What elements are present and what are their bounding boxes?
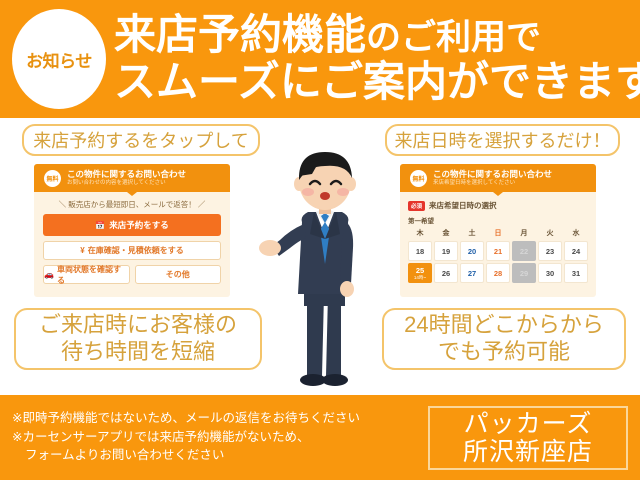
calendar-day-cell[interactable]: 20: [460, 241, 484, 261]
other-button[interactable]: その他: [135, 265, 222, 284]
footer-note-line-3: フォームよりお問い合わせください: [12, 446, 422, 465]
calendar-day-number: 29: [520, 269, 528, 278]
left-caption-pill: 来店予約するをタップして: [22, 124, 260, 156]
calendar-preference-label: 第一希望: [408, 215, 588, 225]
footer-note-line-1: ※即時予約機能ではないため、メールの返信をお待ちください: [12, 409, 422, 428]
calendar-day-cell[interactable]: 2514時~: [408, 263, 432, 283]
calendar-day-cell: 22: [512, 241, 536, 261]
calendar-day-cell[interactable]: 27: [460, 263, 484, 283]
calendar-day-number: 23: [546, 247, 554, 256]
vehicle-condition-button[interactable]: 🚗 車両状態を確認する: [43, 265, 130, 284]
stock-quote-button[interactable]: ¥ 在庫確認・見積依頼をする: [43, 241, 221, 260]
calendar-day-number: 22: [520, 247, 528, 256]
free-badge-icon: 無料: [44, 170, 61, 187]
store-name-line-2: 所沢新座店: [463, 438, 593, 467]
calendar-day-header: 水: [564, 228, 588, 239]
left-mock-header-subtitle: お問い合わせの内容を選択してください: [67, 180, 186, 187]
calendar-day-header: 月: [512, 228, 536, 239]
calendar-day-cell[interactable]: 18: [408, 241, 432, 261]
headline-emphasis: 来店予約機能: [114, 11, 366, 58]
left-benefit-pill: ご来店時にお客様の 待ち時間を短縮: [14, 308, 262, 370]
right-caption-text: 来店日時を選択するだけ！: [395, 127, 611, 153]
left-caption-text: 来店予約するをタップして: [33, 127, 248, 153]
left-mock-promo-text: ＼ 販売店から最短即日、メールで返答！ ／: [34, 199, 230, 210]
calendar-day-header: 木: [408, 228, 432, 239]
calendar-day-cell[interactable]: 28: [486, 263, 510, 283]
calendar-panel: 必須 来店希望日時の選択 第一希望 木金土日月火水181920212223242…: [400, 196, 596, 283]
calendar-day-cell: 29: [512, 263, 536, 283]
right-mock-header-subtitle: 来店希望日時を選択してください: [433, 180, 552, 187]
left-benefit-line-1: ご来店時にお客様の: [39, 312, 237, 339]
calendar-day-number: 27: [468, 269, 476, 278]
calendar-day-header: 土: [460, 228, 484, 239]
calendar-day-number: 21: [494, 247, 502, 256]
store-name-line-1: パッカーズ: [464, 410, 593, 439]
calendar-day-number: 18: [416, 247, 424, 256]
body-area: 来店予約するをタップして 来店日時を選択するだけ！ 無料 この物件に関するお問い…: [0, 118, 640, 395]
reserve-visit-button-label: 来店予約をする: [109, 219, 169, 231]
salesman-illustration: [250, 144, 400, 394]
vehicle-condition-button-label: 車両状態を確認する: [57, 264, 129, 286]
calendar-day-header: 火: [538, 228, 562, 239]
right-mock-header: 無料 この物件に関するお問い合わせ 来店希望日時を選択してください: [400, 164, 596, 192]
left-app-mockup: 無料 この物件に関するお問い合わせ お問い合わせの内容を選択してください ＼ 販…: [34, 164, 230, 297]
headline-line-1: 来店予約機能のご利用で: [114, 13, 640, 58]
calendar-icon: 📅: [95, 221, 105, 230]
calendar-day-number: 31: [572, 269, 580, 278]
car-icon: 🚗: [44, 270, 54, 279]
left-mock-button-row: 🚗 車両状態を確認する その他: [43, 265, 221, 284]
notice-badge-label: お知らせ: [26, 47, 92, 72]
mock-arrow-icon: [127, 192, 137, 196]
calendar-day-cell[interactable]: 26: [434, 263, 458, 283]
calendar-section-title: 来店希望日時の選択: [429, 200, 497, 211]
calendar-day-number: 20: [468, 247, 476, 256]
yen-icon: ¥: [80, 246, 84, 255]
headline-tail: のご利用で: [366, 18, 541, 57]
required-badge: 必須: [408, 201, 425, 211]
calendar-day-number: 25: [416, 266, 424, 275]
calendar-day-header: 日: [486, 228, 510, 239]
calendar-grid[interactable]: 木金土日月火水181920212223242514時~262728293031: [408, 228, 588, 283]
footer-note-line-2: ※カーセンサーアプリでは来店予約機能がないため、: [12, 428, 422, 447]
calendar-day-number: 24: [572, 247, 580, 256]
calendar-day-timeslot: 14時~: [414, 276, 426, 281]
stock-quote-button-label: 在庫確認・見積依頼をする: [88, 245, 184, 256]
advertisement-banner: お知らせ 来店予約機能のご利用で スムーズにご案内ができます 来店予約するをタッ…: [0, 0, 640, 480]
calendar-day-number: 26: [442, 269, 450, 278]
reserve-visit-button[interactable]: 📅 来店予約をする: [43, 214, 221, 236]
other-button-label: その他: [166, 269, 190, 280]
calendar-day-cell[interactable]: 30: [538, 263, 562, 283]
calendar-day-header: 金: [434, 228, 458, 239]
right-benefit-line-1: 24時間どこからから: [404, 312, 604, 339]
right-caption-pill: 来店日時を選択するだけ！: [385, 124, 620, 156]
calendar-day-cell[interactable]: 31: [564, 263, 588, 283]
calendar-day-number: 19: [442, 247, 450, 256]
calendar-day-number: 28: [494, 269, 502, 278]
calendar-day-number: 30: [546, 269, 554, 278]
left-mock-header: 無料 この物件に関するお問い合わせ お問い合わせの内容を選択してください: [34, 164, 230, 192]
right-mock-header-title: この物件に関するお問い合わせ: [433, 169, 552, 179]
left-mock-header-title: この物件に関するお問い合わせ: [67, 169, 186, 179]
notice-badge: お知らせ: [12, 9, 106, 109]
store-name-box: パッカーズ 所沢新座店: [428, 406, 628, 470]
right-app-mockup: 無料 この物件に関するお問い合わせ 来店希望日時を選択してください 必須 来店希…: [400, 164, 596, 297]
free-badge-icon: 無料: [410, 170, 427, 187]
calendar-day-cell[interactable]: 23: [538, 241, 562, 261]
right-benefit-pill: 24時間どこからから でも予約可能: [382, 308, 626, 370]
left-benefit-line-2: 待ち時間を短縮: [39, 339, 237, 366]
header-headline: 来店予約機能のご利用で スムーズにご案内ができます: [114, 13, 640, 104]
calendar-day-cell[interactable]: 24: [564, 241, 588, 261]
calendar-title-row: 必須 来店希望日時の選択: [408, 200, 588, 211]
right-mock-header-texts: この物件に関するお問い合わせ 来店希望日時を選択してください: [433, 169, 552, 186]
headline-line-2: スムーズにご案内ができます: [114, 60, 640, 105]
right-benefit-line-2: でも予約可能: [404, 339, 604, 366]
calendar-day-cell[interactable]: 21: [486, 241, 510, 261]
header-band: お知らせ 来店予約機能のご利用で スムーズにご案内ができます: [0, 0, 640, 118]
footer-disclaimer: ※即時予約機能ではないため、メールの返信をお待ちください ※カーセンサーアプリで…: [12, 409, 422, 465]
calendar-day-cell[interactable]: 19: [434, 241, 458, 261]
left-mock-header-texts: この物件に関するお問い合わせ お問い合わせの内容を選択してください: [67, 169, 186, 186]
